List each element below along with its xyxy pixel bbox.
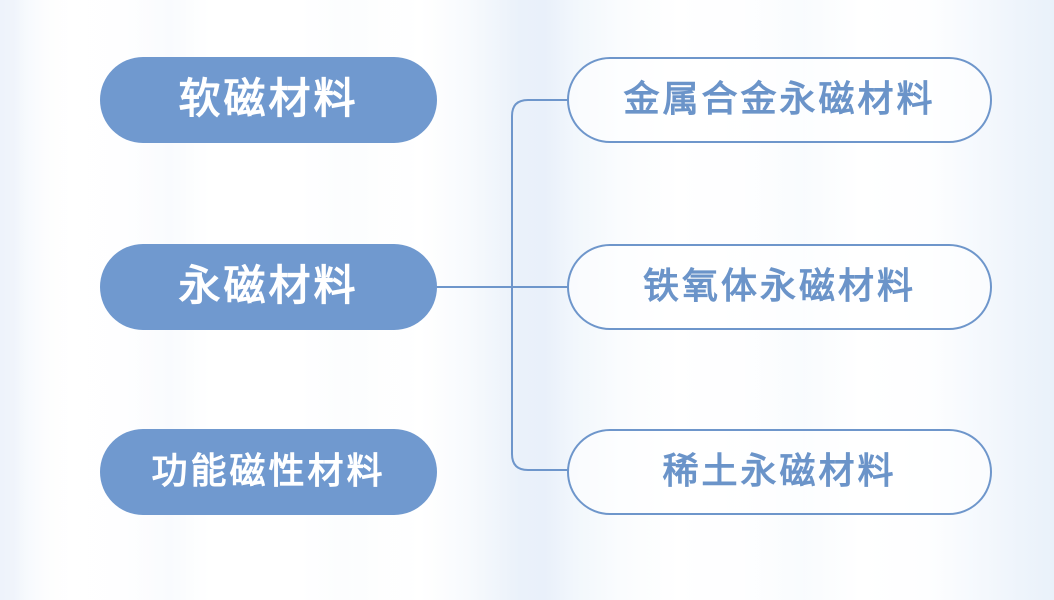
node-functional-magnetic[interactable]: 功能磁性材料 xyxy=(100,429,437,515)
node-permanent-magnetic[interactable]: 永磁材料 xyxy=(100,244,437,330)
diagram-canvas: 软磁材料 永磁材料 功能磁性材料 金属合金永磁材料 铁氧体永磁材料 稀土永磁材料 xyxy=(0,0,1054,600)
node-soft-magnetic[interactable]: 软磁材料 xyxy=(100,57,437,143)
node-label: 铁氧体永磁材料 xyxy=(643,268,916,304)
node-label: 功能磁性材料 xyxy=(151,453,385,489)
node-label: 软磁材料 xyxy=(178,78,358,120)
connector-branch-bottom xyxy=(512,287,567,470)
node-label: 永磁材料 xyxy=(178,265,358,307)
connector-branch-top xyxy=(512,100,567,287)
node-label: 金属合金永磁材料 xyxy=(623,81,935,117)
node-label: 稀土永磁材料 xyxy=(662,453,896,489)
node-ferrite-permanent[interactable]: 铁氧体永磁材料 xyxy=(567,244,992,330)
node-metal-alloy-permanent[interactable]: 金属合金永磁材料 xyxy=(567,57,992,143)
node-rare-earth-permanent[interactable]: 稀土永磁材料 xyxy=(567,429,992,515)
